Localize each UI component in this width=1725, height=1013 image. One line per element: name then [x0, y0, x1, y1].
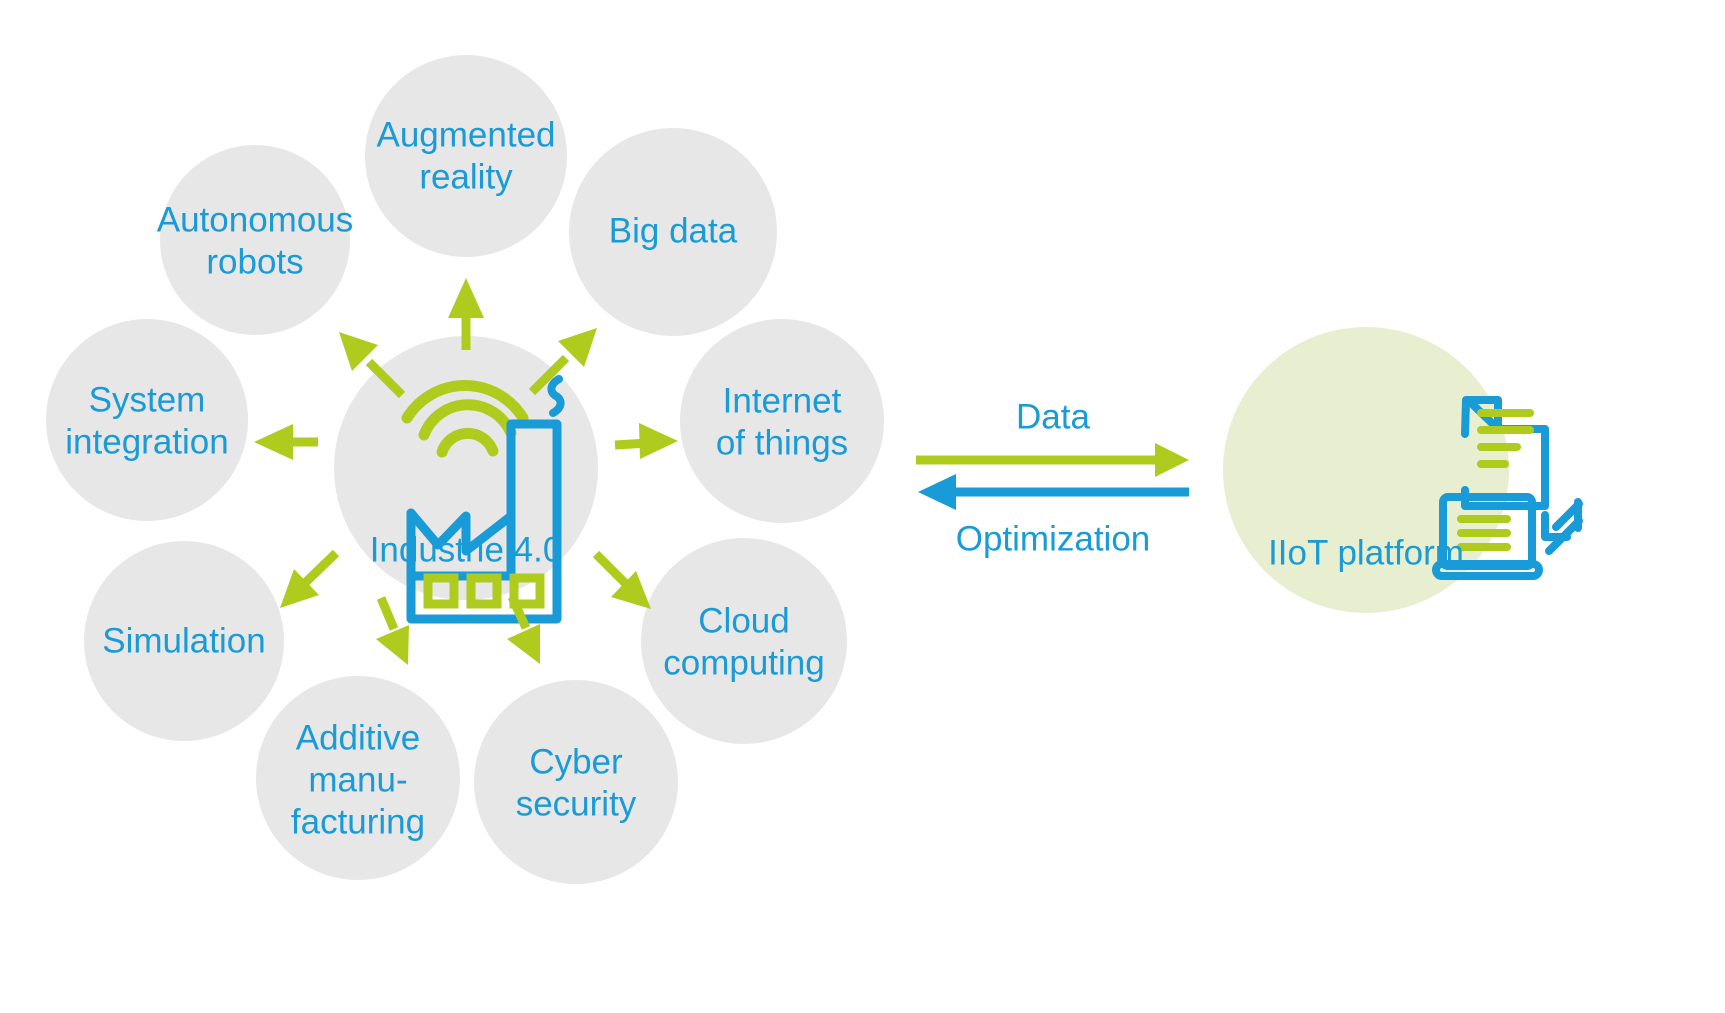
optimization-flow-label: Optimization [956, 519, 1151, 558]
diagram-canvas: Autonomous robots Augmented reality Big … [0, 0, 1725, 1013]
bubble-additive-manufacturing[interactable]: Additive manu- facturing [256, 676, 460, 880]
bubble-simulation[interactable]: Simulation [84, 541, 284, 741]
arrow-to-internet-of-things [615, 423, 678, 459]
bubble-cloud-computing[interactable]: Cloud computing [641, 538, 847, 744]
platform-label: IIoT platform [1268, 533, 1464, 572]
bubble-label-line: robots [206, 242, 303, 281]
bubble-cyber-security[interactable]: Cyber security [474, 680, 678, 884]
bubble-label-line: facturing [291, 802, 425, 841]
center-bubble-industrie-40[interactable]: Industrie 4.0 [334, 336, 598, 619]
bubble-label-line: Internet [723, 381, 842, 420]
bubble-label-line: of things [716, 423, 848, 462]
bubble-augmented-reality[interactable]: Augmented reality [365, 55, 567, 257]
bubble-circle [365, 55, 567, 257]
data-arrow-head [1155, 443, 1189, 477]
diagram-svg: Autonomous robots Augmented reality Big … [0, 0, 1725, 1013]
bubble-label-line: System [89, 380, 206, 419]
data-flow-arrow [916, 443, 1189, 477]
bubble-label-line: Augmented [376, 115, 555, 154]
bubble-internet-of-things[interactable]: Internet of things [680, 319, 884, 523]
bubble-label-line: security [516, 784, 637, 823]
arrow-to-cloud-computing [596, 554, 651, 609]
bubble-circle [46, 319, 248, 521]
bubble-big-data[interactable]: Big data [569, 128, 777, 336]
bubble-label-line: Additive [296, 718, 421, 757]
bubble-label-line: Big data [609, 211, 738, 250]
bubble-autonomous-robots[interactable]: Autonomous robots [157, 145, 354, 335]
bubble-label-line: reality [419, 157, 513, 196]
bubble-circle [474, 680, 678, 884]
arrow-to-simulation [280, 553, 336, 608]
bubble-label-line: integration [65, 422, 228, 461]
arrow-to-additive-manufacturing [376, 598, 409, 665]
bubble-label-line: Autonomous [157, 200, 354, 239]
optimization-flow-arrow [918, 474, 1189, 510]
arrow-to-system-integration [254, 424, 318, 460]
bubble-label-line: Cloud [698, 601, 789, 640]
bubble-label-line: Cyber [529, 742, 623, 781]
bubble-circle [160, 145, 350, 335]
center-bubble-label: Industrie 4.0 [370, 530, 563, 569]
data-flow-label: Data [1016, 397, 1090, 436]
bubble-label-line: computing [663, 643, 824, 682]
bubble-label-line: Simulation [102, 621, 265, 660]
flows-group: Data Optimization [916, 397, 1189, 558]
bubble-circle [641, 538, 847, 744]
optimization-arrow-head [918, 474, 956, 510]
bubble-iiot-platform[interactable]: IIoT platform [1223, 327, 1579, 613]
bubble-system-integration[interactable]: System integration [46, 319, 248, 521]
bubble-label-line: manu- [308, 760, 407, 799]
bubble-circle [680, 319, 884, 523]
